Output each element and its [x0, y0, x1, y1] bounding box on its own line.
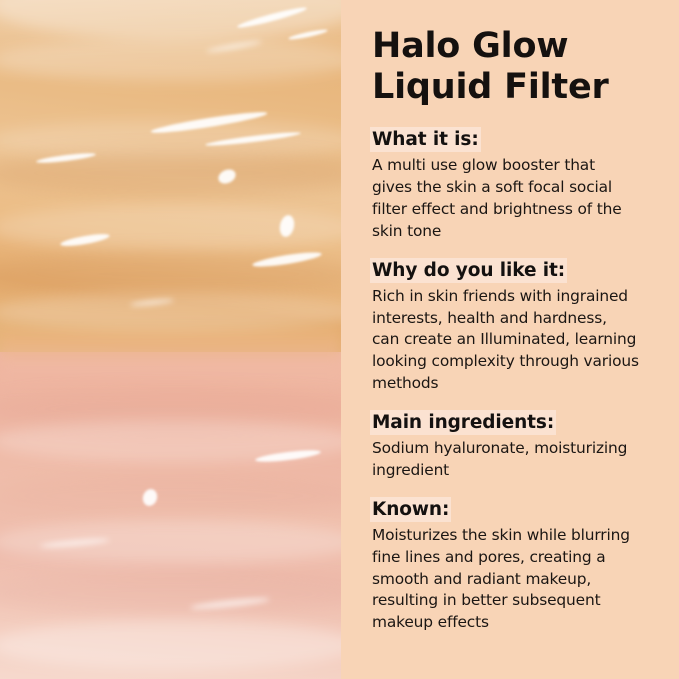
shimmer-band [0, 620, 341, 670]
section-main-ingredients: Main ingredients: Sodium hyaluronate, mo… [372, 412, 653, 482]
page-title: Halo Glow Liquid Filter [372, 26, 653, 107]
product-swatch-image [0, 0, 341, 679]
section-body: A multi use glow booster that gives the … [372, 155, 653, 243]
section-known: Known: Moisturizes the skin while blurri… [372, 499, 653, 634]
section-heading: Why do you like it: [372, 260, 565, 281]
section-body: Sodium hyaluronate, moisturizing ingredi… [372, 438, 653, 482]
shadow-band [0, 572, 341, 616]
swatch-blend-band [0, 330, 341, 390]
product-description-panel: Halo Glow Liquid Filter What it is: A mu… [341, 0, 679, 679]
section-body: Rich in skin friends with ingrained inte… [372, 286, 653, 395]
section-what-it-is: What it is: A multi use glow booster tha… [372, 129, 653, 243]
section-body: Moisturizes the skin while blurring fine… [372, 525, 653, 634]
section-heading-wrap: Known: [372, 499, 653, 520]
section-why-do-you-like-it: Why do you like it: Rich in skin friends… [372, 260, 653, 395]
section-heading-wrap: Main ingredients: [372, 412, 653, 433]
section-heading: What it is: [372, 129, 479, 150]
section-heading: Main ingredients: [372, 412, 554, 433]
product-info-card: Halo Glow Liquid Filter What it is: A mu… [0, 0, 679, 679]
shimmer-band [0, 38, 341, 82]
section-heading: Known: [372, 499, 449, 520]
section-heading-wrap: What it is: [372, 129, 653, 150]
section-heading-wrap: Why do you like it: [372, 260, 653, 281]
shimmer-band [0, 292, 341, 332]
shadow-band [0, 474, 341, 518]
